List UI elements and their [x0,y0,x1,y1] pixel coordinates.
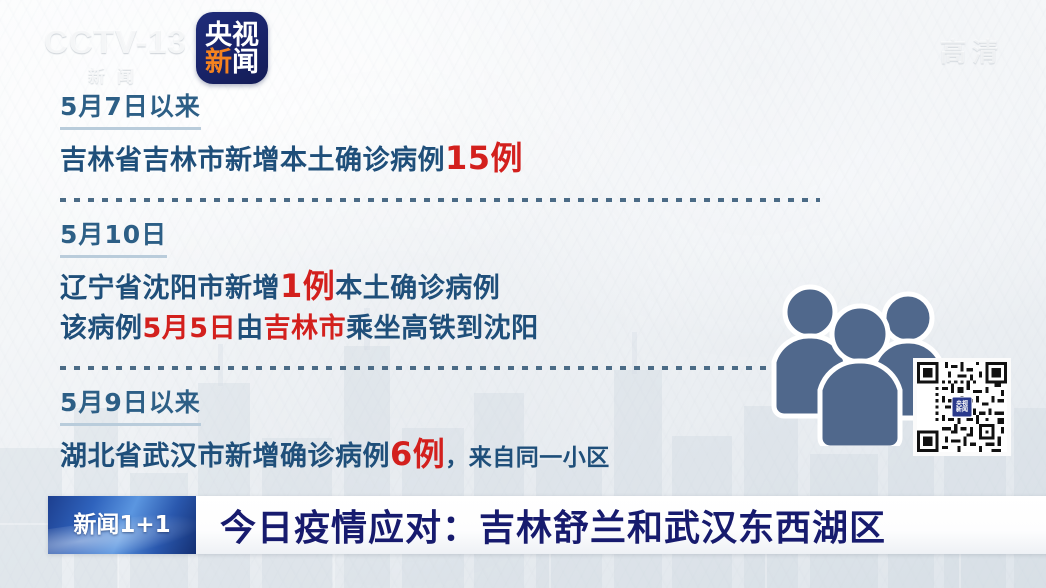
block-line: 湖北省武汉市新增确诊病例6例，来自同一小区 [60,437,820,475]
text-segment: 由 [236,313,264,344]
hd-watermark: 高清 [940,32,1004,69]
banner-title: 今日疫情应对：吉林舒兰和武汉东西湖区 [196,496,1046,554]
badge-char-xin: 新 [205,49,232,76]
qr-code[interactable]: 央视 新闻 [913,358,1011,456]
highlight-date: 5月5日 [143,313,237,344]
highlight-city: 吉林市 [264,313,347,344]
cctv-logo-line1: CCTV-13 [44,24,196,60]
program-logo-text: 新闻1+1 [73,505,170,539]
program-logo-reflection: 新闻1+1 [48,552,196,554]
badge-row-top: 央视 [205,22,259,49]
info-block-2: 5月10日 辽宁省沈阳市新增1例本土确诊病例 该病例5月5日由吉林市乘坐高铁到沈… [60,220,820,346]
text-segment: 本土确诊病例 [335,273,500,304]
text-segment-tail: ，来自同一小区 [445,445,610,471]
block-heading: 5月7日以来 [60,92,201,130]
broadcast-screen: CCTV-13 新闻 央视 新 闻 高清 5月7日以来 吉林省吉林市新增本土确诊… [0,0,1046,588]
badge-char-yang: 央视 [205,22,259,49]
block-line: 吉林省吉林市新增本土确诊病例15例 [60,141,820,178]
block-line: 该病例5月5日由吉林市乘坐高铁到沈阳 [60,312,820,346]
highlight-count: 1例 [280,267,335,305]
qr-center-logo: 央视 新闻 [952,397,973,418]
block-heading: 5月10日 [60,220,167,258]
highlight-count: 6例 [390,435,445,473]
badge-row-bottom: 新 闻 [205,49,259,76]
block-line: 辽宁省沈阳市新增1例本土确诊病例 [60,269,820,306]
content-blocks: 5月7日以来 吉林省吉林市新增本土确诊病例15例 5月10日 辽宁省沈阳市新增1… [60,92,820,475]
text-segment: 乘坐高铁到沈阳 [346,313,539,344]
program-logo-box: 新闻1+1 新闻1+1 [48,496,196,554]
cctv-logo-line2: 新闻 [88,62,196,87]
dashed-divider-1 [60,198,820,202]
text-segment: 吉林省吉林市新增本土确诊病例 [60,145,445,176]
text-segment: 辽宁省沈阳市新增 [60,273,280,304]
highlight-count: 15例 [445,139,523,177]
cctv-channel-logo: CCTV-13 新闻 [44,24,196,86]
qr-logo-bottom: 新闻 [956,407,968,413]
block-heading: 5月9日以来 [60,388,201,426]
text-segment: 该病例 [60,313,143,344]
cctv-news-badge: 央视 新 闻 [196,12,268,84]
dashed-divider-2 [60,366,820,370]
info-block-1: 5月7日以来 吉林省吉林市新增本土确诊病例15例 [60,92,820,178]
badge-char-wen: 闻 [232,49,259,76]
lower-third-banner: 新闻1+1 新闻1+1 今日疫情应对：吉林舒兰和武汉东西湖区 [48,496,1046,554]
text-segment: 湖北省武汉市新增确诊病例 [60,441,390,472]
info-block-3: 5月9日以来 湖北省武汉市新增确诊病例6例，来自同一小区 [60,388,820,475]
